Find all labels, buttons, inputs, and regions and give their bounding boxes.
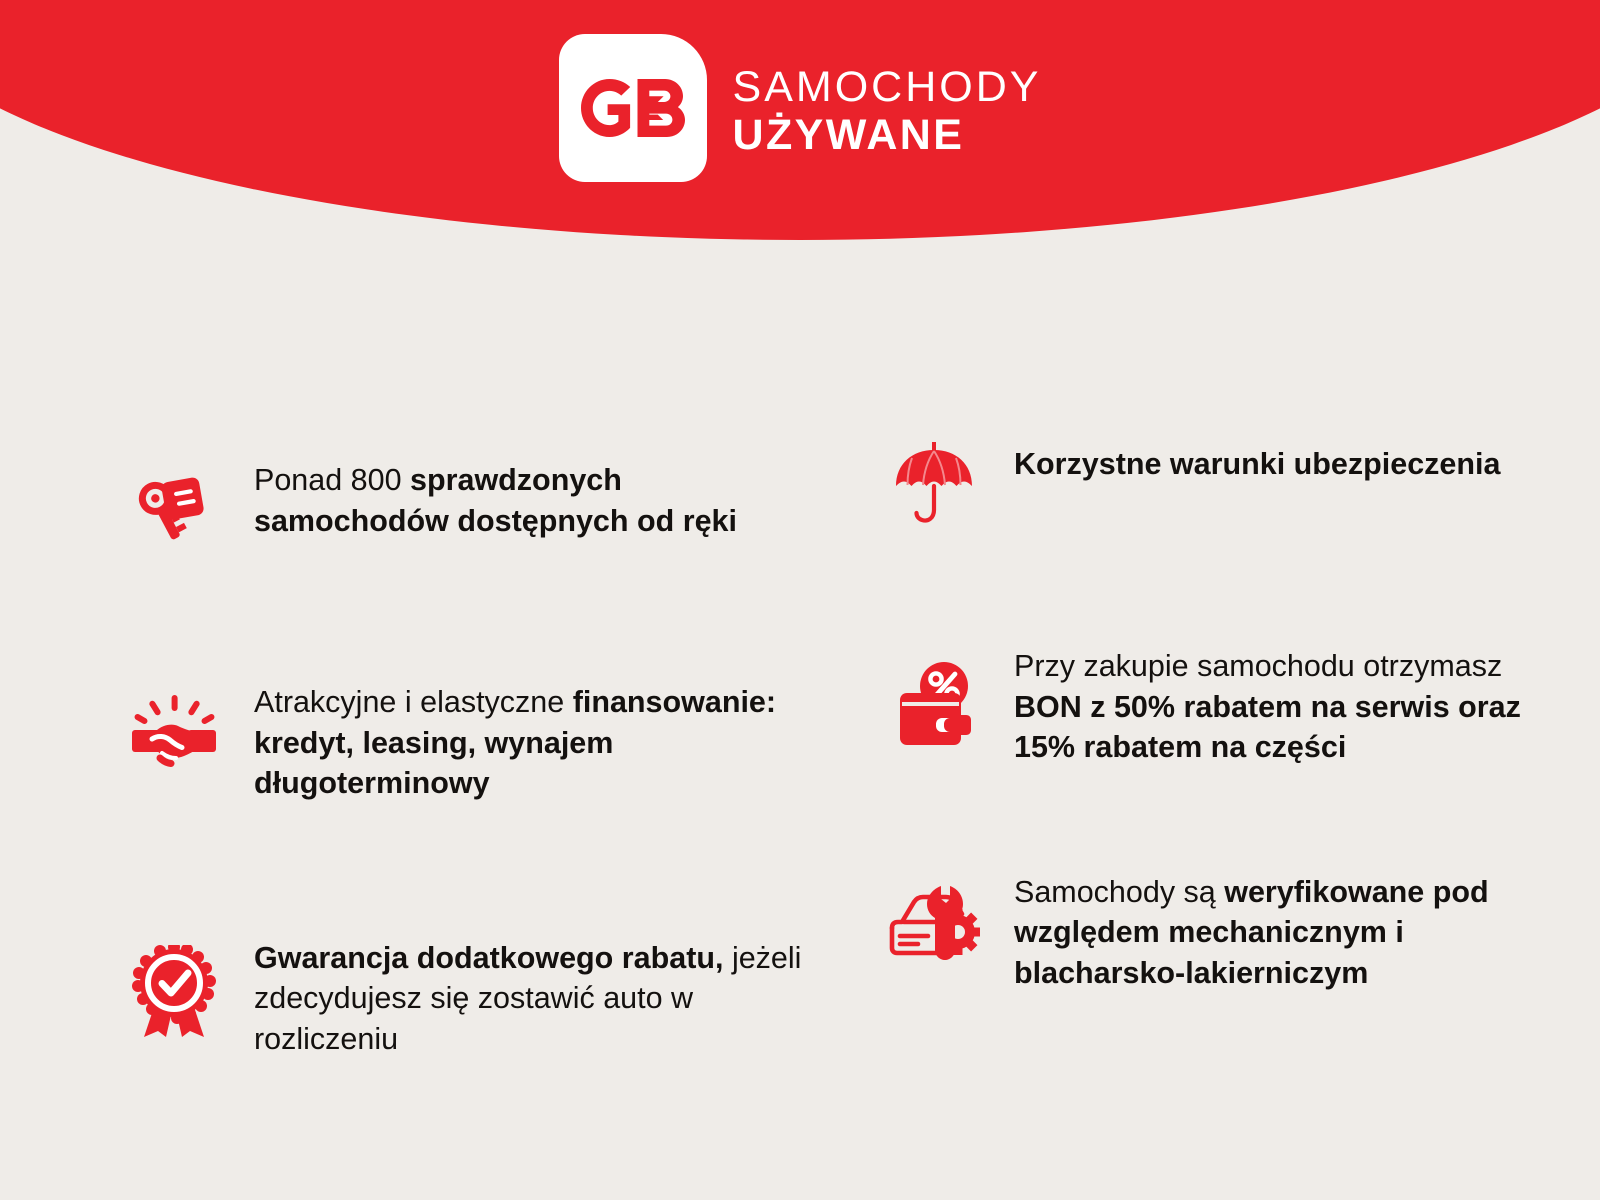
- feature-text-guarantee: Gwarancja dodatkowego rabatu, jeżeli zde…: [254, 936, 814, 1060]
- car-key-icon: [128, 464, 220, 556]
- feature-text-inspection: Samochody są weryfikowane pod względem m…: [1014, 870, 1574, 994]
- award-rosette-icon: [128, 946, 220, 1038]
- feature-text-voucher: Przy zakupie samochodu otrzymasz BON z 5…: [1014, 644, 1574, 768]
- features-grid: Ponad 800 sprawdzonych samochodów dostęp…: [0, 430, 1600, 1075]
- umbrella-icon: [888, 436, 980, 528]
- feature-text-insurance: Korzystne warunki ubezpieczenia: [1014, 442, 1500, 485]
- wallet-percent-icon: [888, 658, 980, 750]
- gb-logo-mark[interactable]: [559, 34, 707, 182]
- brand-wordmark-line-1: SAMOCHODY: [733, 65, 1042, 111]
- brand-lockup: SAMOCHODY UŻYWANE: [0, 0, 1600, 240]
- feature-column-right: Korzystne warunki ubezpieczenia: [840, 430, 1600, 1075]
- brand-wordmark: SAMOCHODY UŻYWANE: [733, 57, 1042, 159]
- feature-item-guarantee: Gwarancja dodatkowego rabatu, jeżeli zde…: [128, 936, 840, 1060]
- feature-column-left: Ponad 800 sprawdzonych samochodów dostęp…: [0, 430, 840, 1075]
- feature-item-inspection: Samochody są weryfikowane pod względem m…: [888, 870, 1600, 994]
- feature-item-financing: Atrakcyjne i elastyczne finansowanie: kr…: [128, 680, 840, 804]
- feature-item-voucher: Przy zakupie samochodu otrzymasz BON z 5…: [888, 644, 1600, 768]
- car-wrench-gear-icon: [888, 876, 980, 968]
- brand-wordmark-line-2: UŻYWANE: [733, 111, 1042, 159]
- feature-item-cars: Ponad 800 sprawdzonych samochodów dostęp…: [128, 458, 840, 556]
- handshake-icon: [128, 688, 220, 780]
- feature-text-cars: Ponad 800 sprawdzonych samochodów dostęp…: [254, 458, 814, 541]
- feature-text-financing: Atrakcyjne i elastyczne finansowanie: kr…: [254, 680, 814, 804]
- feature-item-insurance: Korzystne warunki ubezpieczenia: [888, 442, 1600, 528]
